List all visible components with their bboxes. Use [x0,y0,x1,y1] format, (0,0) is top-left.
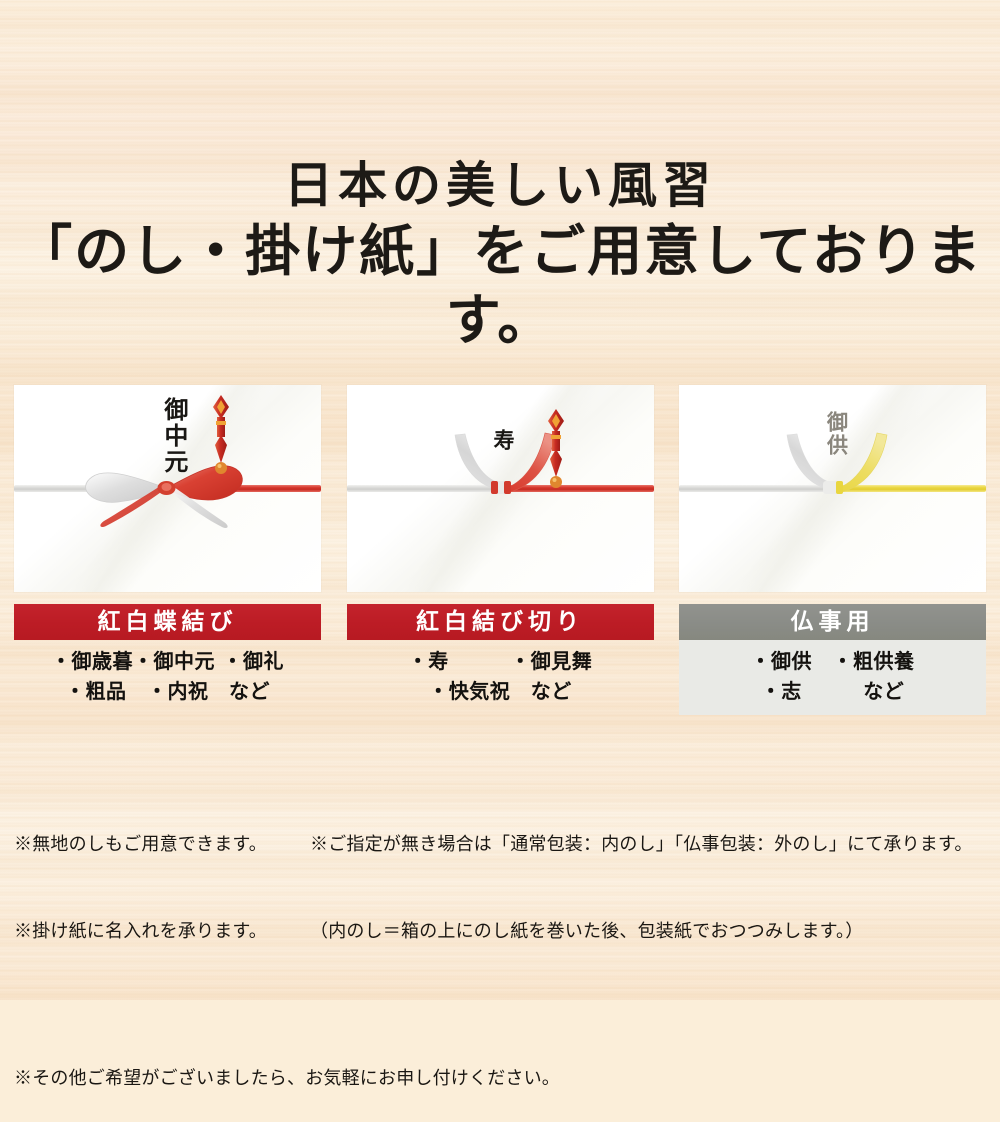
heading-line-2: 「のし・掛け紙」をご用意しております。 [0,217,1000,355]
footnote-columns: ※無地のしもご用意できます。 ※掛け紙に名入れを承ります。 ※ご指定が無き場合は… [14,771,986,1004]
noshi-title-1: 御中元 [160,397,187,475]
card-uses-1: ・御歳暮・御中元 ・御礼 ・粗品 ・内祝 など [14,640,321,715]
heading-line-1: 日本の美しい風習 [0,160,1000,211]
footnote-line: ※掛け紙に名入れを承ります。 [14,917,310,946]
mizuhiki-musubikiri-knot [347,385,654,592]
footnote-column-right: ※ご指定が無き場合は「通常包装：内のし」「仏事包装：外のし」にて承ります。 （内… [310,771,986,1004]
noshi-card-row: 御中元 紅白蝶結び ・御歳暮・ [14,385,986,715]
use-line: ・御歳暮・御中元 ・御礼 [14,647,321,677]
footnotes: ※無地のしもご用意できます。 ※掛け紙に名入れを承ります。 ※ご指定が無き場合は… [14,713,986,1122]
footnote-line-full: ※その他ご希望がございましたら、お気軽にお申し付けください。 [14,1064,986,1093]
footnote-column-left: ※無地のしもご用意できます。 ※掛け紙に名入れを承ります。 [14,771,310,1004]
noshi-paper-1: 御中元 [14,385,321,592]
card-uses-2: ・寿 ・御見舞 ・快気祝 など [347,640,654,715]
use-line: ・粗品 ・内祝 など [14,677,321,707]
use-line: ・御供 ・粗供養 [679,647,986,677]
footnote-line: ※無地のしもご用意できます。 [14,830,310,859]
noshi-ornament-icon [545,407,567,493]
card-label-1: 紅白蝶結び [14,604,321,640]
noshi-paper-3: 御供 [679,385,986,592]
use-line: ・寿 ・御見舞 [347,647,654,677]
noshi-ornament-icon [210,393,232,479]
card-label-3: 仏事用 [679,604,986,640]
footnote-line: （内のし＝箱の上にのし紙を巻いた後、包装紙でおつつみします。） [310,917,986,946]
noshi-card-butsuji[interactable]: 御供 仏事用 ・御供 ・粗供養 ・志 など [679,385,986,715]
noshi-title-2: 寿 [492,429,516,452]
footnote-line: ※ご指定が無き場合は「通常包装：内のし」「仏事包装：外のし」にて承ります。 [310,830,986,859]
use-line: ・快気祝 など [347,677,654,707]
noshi-card-kouhaku-musubikiri[interactable]: 寿 紅白結び切り ・寿 ・御見舞 [347,385,654,715]
use-line: ・志 など [679,677,986,707]
noshi-paper-2: 寿 [347,385,654,592]
card-uses-3: ・御供 ・粗供養 ・志 など [679,640,986,715]
card-label-2: 紅白結び切り [347,604,654,640]
noshi-title-3: 御供 [825,411,849,457]
page-title: 日本の美しい風習 「のし・掛け紙」をご用意しております。 [0,160,1000,355]
noshi-card-kouhaku-chomusubi[interactable]: 御中元 紅白蝶結び ・御歳暮・ [14,385,321,715]
